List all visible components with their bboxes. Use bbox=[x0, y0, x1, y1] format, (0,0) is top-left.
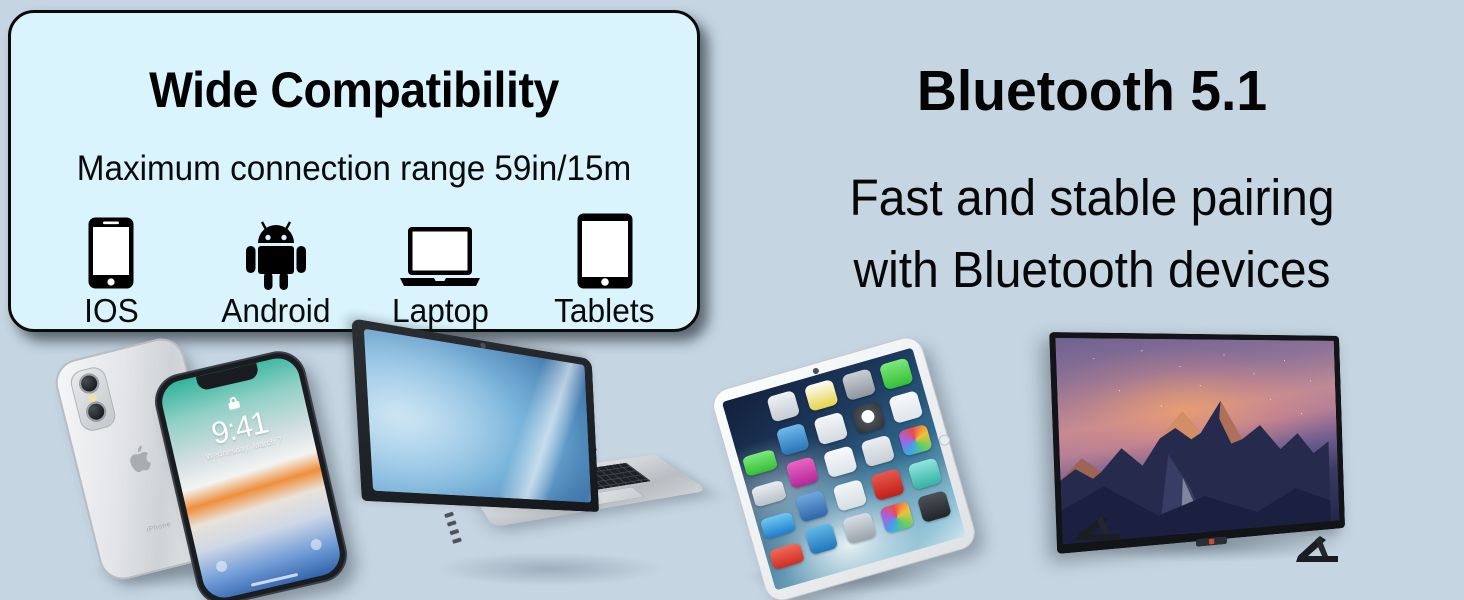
device-label: IOS bbox=[84, 294, 139, 327]
promo-banner: Wide Compatibility Maximum connection ra… bbox=[0, 0, 1464, 600]
device-item-ios: IOS bbox=[36, 212, 186, 327]
laptop-ports bbox=[443, 505, 474, 559]
phone-notch bbox=[196, 363, 260, 392]
home-indicator bbox=[251, 573, 298, 587]
device-item-tablets: Tablets bbox=[530, 212, 680, 327]
apple-logo-icon bbox=[126, 441, 158, 476]
camera-icon bbox=[310, 538, 323, 551]
bluetooth-tagline-line1: Fast and stable pairing bbox=[742, 168, 1441, 227]
phone-camera-module bbox=[68, 365, 118, 434]
device-label: Android bbox=[221, 294, 330, 327]
tv-stands bbox=[1058, 334, 1370, 592]
card-subtitle: Maximum connection range 59in/15m bbox=[28, 149, 680, 189]
lock-icon bbox=[227, 396, 240, 410]
wide-compatibility-card: Wide Compatibility Maximum connection ra… bbox=[8, 10, 700, 332]
tablet-home-screen bbox=[722, 348, 966, 591]
tablet-body bbox=[710, 334, 978, 600]
television-photo bbox=[1058, 334, 1370, 592]
flashlight-icon bbox=[215, 560, 228, 573]
device-label: Laptop bbox=[392, 294, 489, 327]
tablet-icon bbox=[576, 212, 634, 290]
device-item-laptop: Laptop bbox=[365, 212, 515, 327]
device-item-android: Android bbox=[201, 212, 351, 327]
tablet-photo bbox=[724, 352, 990, 590]
android-robot-icon bbox=[245, 212, 307, 290]
card-title: Wide Compatibility bbox=[35, 61, 673, 119]
laptop-icon bbox=[398, 212, 482, 290]
laptop-screen-wallpaper bbox=[364, 329, 591, 503]
device-icon-row: IOS bbox=[29, 201, 687, 327]
smartphone-icon bbox=[87, 212, 135, 290]
bluetooth-version-title: Bluetooth 5.1 bbox=[731, 58, 1453, 124]
laptop-lid bbox=[351, 318, 599, 512]
bluetooth-tagline-line2: with Bluetooth devices bbox=[742, 240, 1441, 299]
smartphone-photo: iPhone 9:41 Wednesday, March 7 bbox=[60, 336, 360, 600]
laptop-shadow bbox=[434, 552, 664, 586]
laptop-photo bbox=[372, 356, 690, 594]
device-label: Tablets bbox=[555, 294, 655, 327]
